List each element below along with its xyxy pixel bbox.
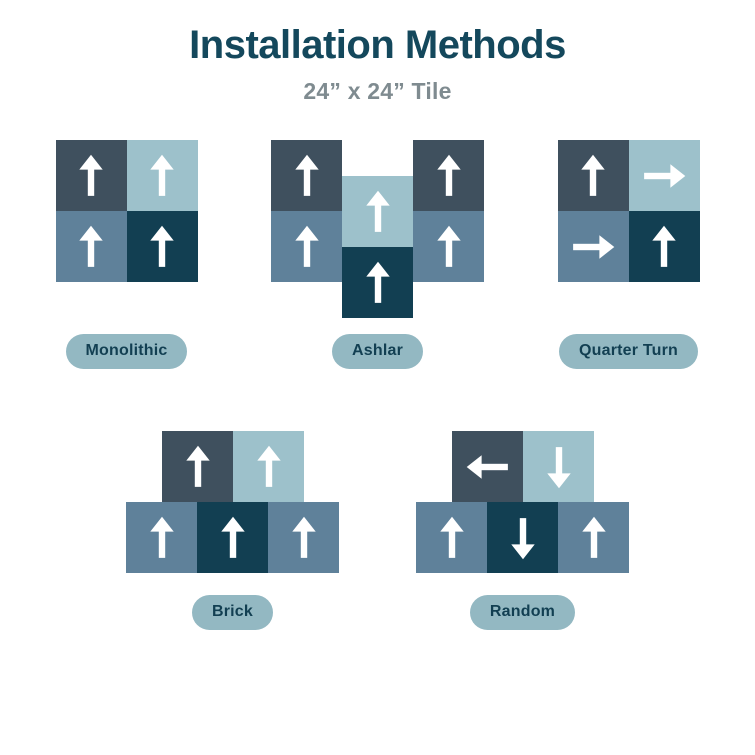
arrow-down-icon — [523, 431, 594, 502]
method-random: Random — [378, 431, 668, 630]
tile-pattern-holder — [378, 431, 668, 581]
tile — [558, 211, 629, 282]
infographic-page: Installation Methods 24” x 24” Tile Mono… — [0, 0, 755, 755]
arrow-up-icon — [56, 140, 127, 211]
methods-container: MonolithicAshlarQuarter Turn BrickRandom — [0, 140, 755, 630]
tile — [127, 140, 198, 211]
arrow-up-icon — [271, 140, 342, 211]
tile — [271, 211, 342, 282]
arrow-up-icon — [233, 431, 304, 502]
tile — [629, 211, 700, 282]
tile — [197, 502, 268, 573]
tile-pattern-holder — [252, 140, 503, 320]
arrow-up-icon — [127, 211, 198, 282]
tile-pattern-holder — [88, 431, 378, 581]
tile-pattern-random — [416, 431, 629, 573]
method-label-wrap: Ashlar — [252, 320, 503, 369]
method-label-monolithic: Monolithic — [66, 334, 188, 369]
arrow-up-icon — [416, 502, 487, 573]
arrow-up-icon — [271, 211, 342, 282]
arrow-up-icon — [558, 502, 629, 573]
arrow-up-icon — [342, 176, 413, 247]
tile — [558, 502, 629, 573]
method-label-quarter-turn: Quarter Turn — [559, 334, 698, 369]
tile — [413, 140, 484, 211]
tile — [126, 502, 197, 573]
arrow-up-icon — [197, 502, 268, 573]
tile — [629, 140, 700, 211]
tile-pattern-holder — [503, 140, 754, 320]
tile — [268, 502, 339, 573]
method-label-ashlar: Ashlar — [332, 334, 423, 369]
method-label-brick: Brick — [192, 595, 273, 630]
arrow-up-icon — [629, 211, 700, 282]
tile — [342, 176, 413, 247]
method-label-wrap: Quarter Turn — [503, 320, 754, 369]
tile-pattern-brick — [126, 431, 339, 573]
arrow-up-icon — [268, 502, 339, 573]
tile-pattern-holder — [1, 140, 252, 320]
tile — [487, 502, 558, 573]
arrow-up-icon — [342, 247, 413, 318]
tile — [558, 140, 629, 211]
method-label-wrap: Monolithic — [1, 320, 252, 369]
methods-row-2: BrickRandom — [0, 431, 755, 630]
arrow-up-icon — [126, 502, 197, 573]
tile — [162, 431, 233, 502]
tile-pattern-ashlar — [271, 140, 484, 318]
tile — [127, 211, 198, 282]
tile-pattern-quarter-turn — [558, 140, 700, 282]
arrow-right-icon — [629, 140, 700, 211]
arrow-left-icon — [452, 431, 523, 502]
tile — [413, 211, 484, 282]
tile — [342, 247, 413, 318]
tile — [56, 211, 127, 282]
method-monolithic: Monolithic — [1, 140, 252, 369]
methods-row-1: MonolithicAshlarQuarter Turn — [0, 140, 755, 369]
method-label-wrap: Brick — [88, 581, 378, 630]
method-brick: Brick — [88, 431, 378, 630]
arrow-up-icon — [413, 211, 484, 282]
arrow-up-icon — [413, 140, 484, 211]
method-label-random: Random — [470, 595, 575, 630]
arrow-up-icon — [558, 140, 629, 211]
arrow-up-icon — [162, 431, 233, 502]
page-title: Installation Methods — [0, 22, 755, 68]
tile — [416, 502, 487, 573]
arrow-down-icon — [487, 502, 558, 573]
method-label-wrap: Random — [378, 581, 668, 630]
tile — [233, 431, 304, 502]
tile — [271, 140, 342, 211]
tile — [56, 140, 127, 211]
page-subtitle: 24” x 24” Tile — [0, 78, 755, 105]
arrow-up-icon — [127, 140, 198, 211]
tile — [523, 431, 594, 502]
arrow-right-icon — [558, 211, 629, 282]
header: Installation Methods 24” x 24” Tile — [0, 0, 755, 105]
method-quarter-turn: Quarter Turn — [503, 140, 754, 369]
tile — [452, 431, 523, 502]
tile-pattern-monolithic — [56, 140, 198, 282]
method-ashlar: Ashlar — [252, 140, 503, 369]
arrow-up-icon — [56, 211, 127, 282]
